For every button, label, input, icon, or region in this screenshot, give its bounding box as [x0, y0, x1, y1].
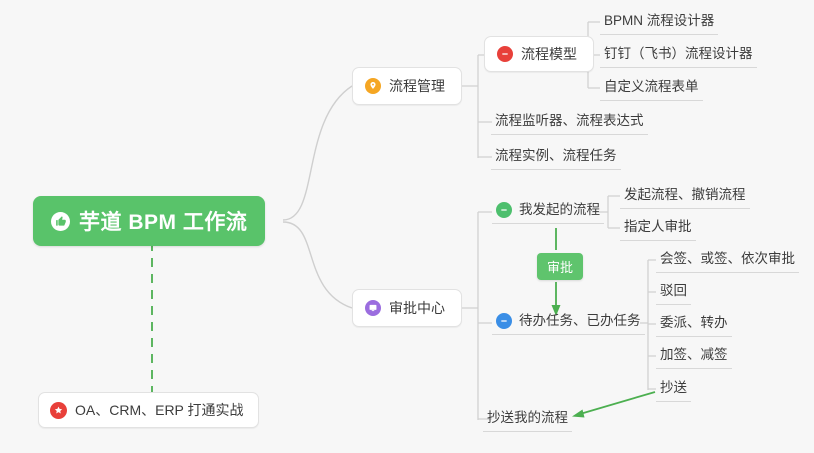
- node-label: 流程模型: [521, 44, 577, 64]
- branch-label: 审批中心: [389, 298, 445, 318]
- root-node[interactable]: 芋道 BPM 工作流: [33, 196, 265, 246]
- tag-approval[interactable]: 审批: [537, 253, 583, 280]
- leaf-cc[interactable]: 抄送: [656, 379, 691, 402]
- minus-circle-icon: [496, 313, 512, 329]
- leaf-listener-expression[interactable]: 流程监听器、流程表达式: [491, 112, 648, 135]
- branch-label: 流程管理: [389, 76, 445, 96]
- leaf-start-cancel[interactable]: 发起流程、撤销流程: [620, 186, 750, 209]
- leaf-reject[interactable]: 驳回: [656, 282, 691, 305]
- node-label: 待办任务、已办任务: [519, 312, 641, 330]
- leaf-dingtalk-designer[interactable]: 钉钉（飞书）流程设计器: [600, 45, 757, 68]
- star-circle-icon: [50, 402, 67, 419]
- callout-label: OA、CRM、ERP 打通实战: [75, 400, 244, 420]
- leaf-cc-to-me[interactable]: 抄送我的流程: [483, 409, 572, 432]
- monitor-icon: [365, 300, 381, 316]
- root-label: 芋道 BPM 工作流: [79, 206, 247, 236]
- leaf-countersign[interactable]: 会签、或签、依次审批: [656, 250, 799, 273]
- leaf-delegate-transfer[interactable]: 委派、转办: [656, 314, 732, 337]
- node-my-initiated[interactable]: 我发起的流程: [492, 201, 604, 224]
- integration-callout[interactable]: OA、CRM、ERP 打通实战: [38, 392, 259, 428]
- location-pin-icon: [365, 78, 381, 94]
- branch-approval-center[interactable]: 审批中心: [352, 289, 462, 327]
- minus-circle-icon: [497, 46, 513, 62]
- node-label: 我发起的流程: [519, 201, 600, 219]
- leaf-custom-form[interactable]: 自定义流程表单: [600, 78, 703, 101]
- leaf-add-remove-sign[interactable]: 加签、减签: [656, 346, 732, 369]
- leaf-instance-task[interactable]: 流程实例、流程任务: [491, 147, 621, 170]
- node-process-model[interactable]: 流程模型: [484, 36, 594, 72]
- thumbs-up-icon: [51, 212, 70, 231]
- mindmap-canvas: 芋道 BPM 工作流 流程管理 流程模型 BPMN 流程设计器 钉钉（飞书）流程…: [0, 0, 814, 453]
- leaf-assign-approver[interactable]: 指定人审批: [620, 218, 696, 241]
- minus-circle-icon: [496, 202, 512, 218]
- branch-process-management[interactable]: 流程管理: [352, 67, 462, 105]
- node-todo-done[interactable]: 待办任务、已办任务: [492, 312, 645, 335]
- leaf-bpmn-designer[interactable]: BPMN 流程设计器: [600, 12, 718, 35]
